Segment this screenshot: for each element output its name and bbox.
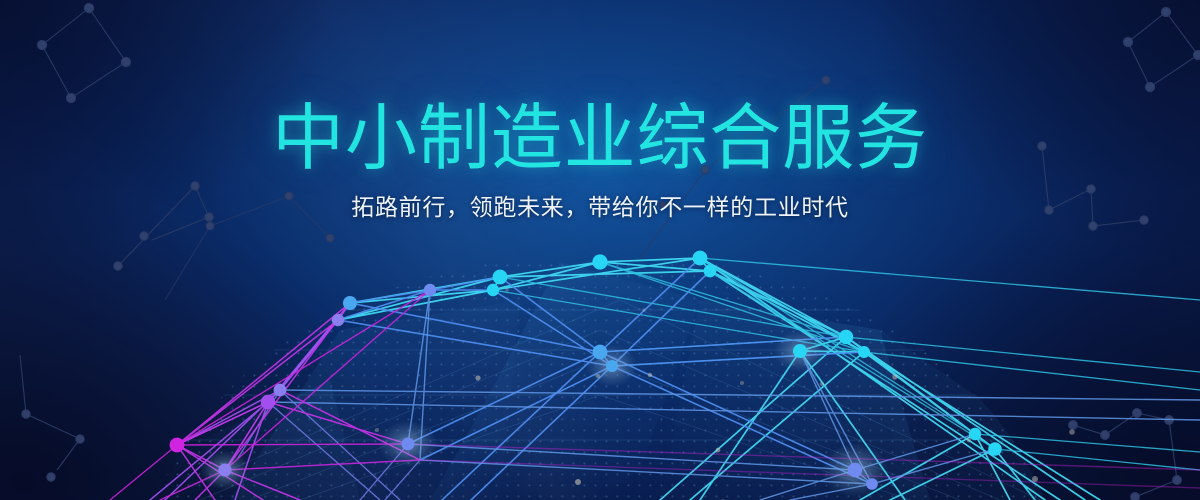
dome-edges-cyan (338, 258, 1200, 500)
dust-particles (375, 288, 1075, 500)
dome-edges-magenta (110, 290, 1200, 500)
hero-banner: 中小制造业综合服务 拓路前行，领跑未来，带给你不一样的工业时代 (0, 0, 1200, 500)
network-dome (0, 0, 1200, 500)
dome-edges-blue (225, 258, 1200, 500)
